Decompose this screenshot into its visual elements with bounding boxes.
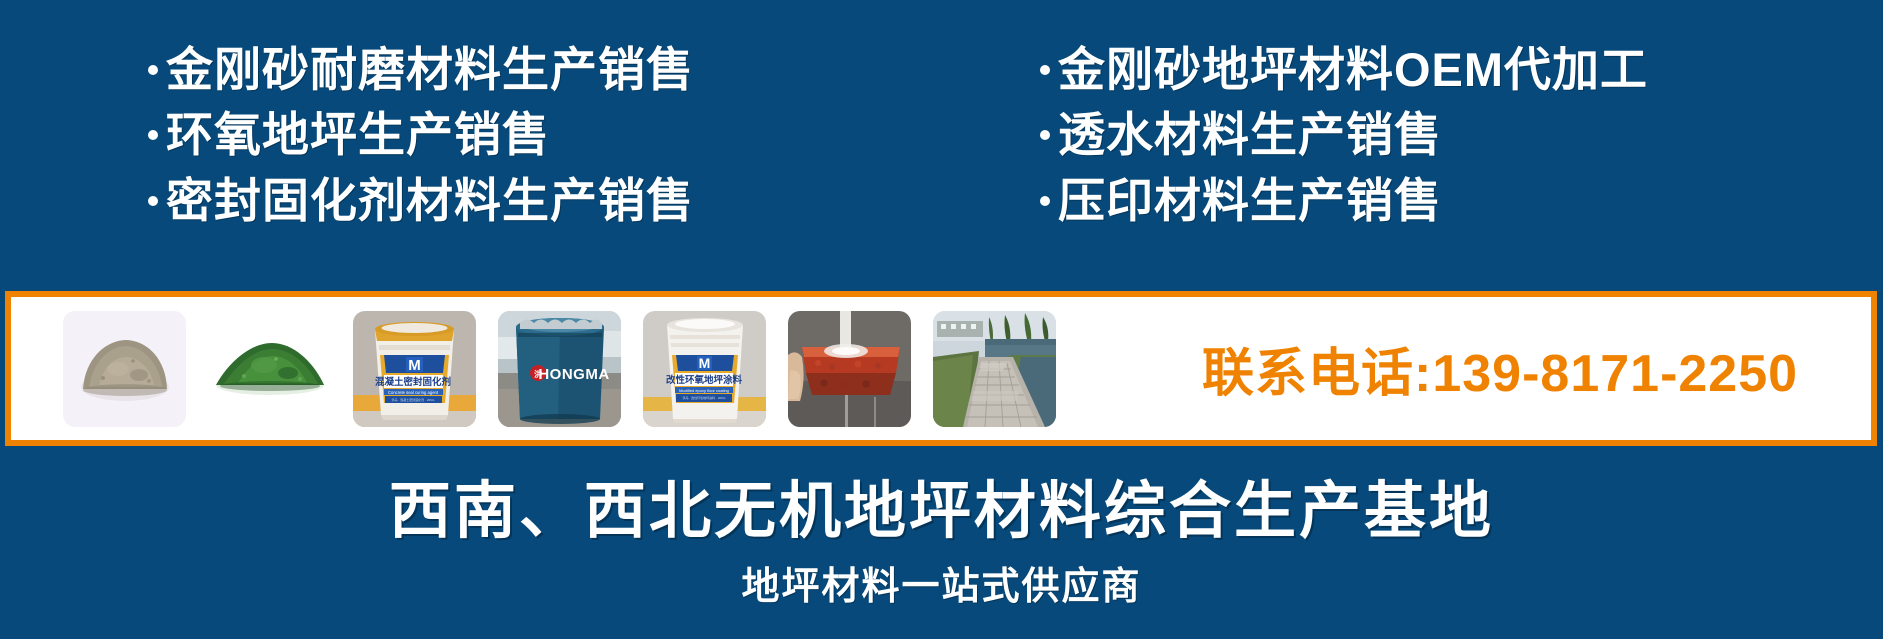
product-photo-strip: M 混凝土密封固化剂 Concrete seal curing agent 洪马… (11, 311, 1056, 427)
bullet-dot-icon (1040, 196, 1050, 206)
services-list-left: 金刚砂耐磨材料生产销售 环氧地坪生产销售 密封固化剂材料生产销售 (148, 42, 694, 228)
advertisement-banner: 金刚砂耐磨材料生产销售 环氧地坪生产销售 密封固化剂材料生产销售 金刚砂地坪材料… (0, 0, 1883, 639)
svg-text:M: M (408, 357, 421, 374)
green-abrasive-powder-photo (208, 311, 331, 427)
permeable-concrete-photo (788, 311, 911, 427)
gray-abrasive-powder-photo (63, 311, 186, 427)
svg-text:洪马 · 混凝土密封固化剂 · 20KG: 洪马 · 混凝土密封固化剂 · 20KG (391, 397, 435, 402)
bullet-dot-icon (1040, 65, 1050, 75)
service-label: 透水材料生产销售 (1058, 107, 1442, 162)
page-title: 西南、西北无机地坪材料综合生产基地 (0, 460, 1883, 550)
svg-text:HONGMA: HONGMA (538, 366, 609, 383)
page-subtitle: 地坪材料一站式供应商 (0, 555, 1883, 610)
service-label: 金刚砂耐磨材料生产销售 (166, 42, 694, 97)
contact-phone: 联系电话:139-8171-2250 (1202, 331, 1798, 406)
service-item: 密封固化剂材料生产销售 (148, 173, 694, 228)
hongma-drum-photo: 洪 HONGMA (498, 311, 621, 427)
svg-text:改性环氧地坪涂料: 改性环氧地坪涂料 (666, 374, 743, 386)
service-label: 压印材料生产销售 (1058, 173, 1442, 228)
bullet-dot-icon (148, 196, 158, 206)
svg-text:Concrete seal curing agent: Concrete seal curing agent (388, 390, 439, 395)
bullet-dot-icon (1040, 130, 1050, 140)
svg-text:M: M (699, 355, 711, 371)
service-label: 密封固化剂材料生产销售 (166, 173, 694, 228)
service-item: 透水材料生产销售 (1040, 107, 1648, 162)
service-item: 金刚砂耐磨材料生产销售 (148, 42, 694, 97)
service-item: 金刚砂地坪材料OEM代加工 (1040, 42, 1648, 97)
services-list-right: 金刚砂地坪材料OEM代加工 透水材料生产销售 压印材料生产销售 (1040, 42, 1648, 228)
product-photo-panel: M 混凝土密封固化剂 Concrete seal curing agent 洪马… (5, 291, 1877, 446)
service-label: 环氧地坪生产销售 (166, 107, 550, 162)
stamped-concrete-walkway-photo (933, 311, 1056, 427)
service-item: 环氧地坪生产销售 (148, 107, 694, 162)
service-item: 压印材料生产销售 (1040, 173, 1648, 228)
bullet-dot-icon (148, 130, 158, 140)
svg-text:混凝土密封固化剂: 混凝土密封固化剂 (375, 376, 451, 388)
sealer-bucket-photo: M 混凝土密封固化剂 Concrete seal curing agent 洪马… (353, 311, 476, 427)
service-label: 金刚砂地坪材料OEM代加工 (1058, 42, 1648, 97)
svg-text:Modified epoxy floor coating: Modified epoxy floor coating (679, 388, 729, 393)
bullet-dot-icon (148, 65, 158, 75)
epoxy-coating-bucket-photo: M 改性环氧地坪涂料 Modified epoxy floor coating … (643, 311, 766, 427)
svg-text:洪马 · 改性环氧地坪涂料 · 20KG: 洪马 · 改性环氧地坪涂料 · 20KG (682, 395, 726, 400)
